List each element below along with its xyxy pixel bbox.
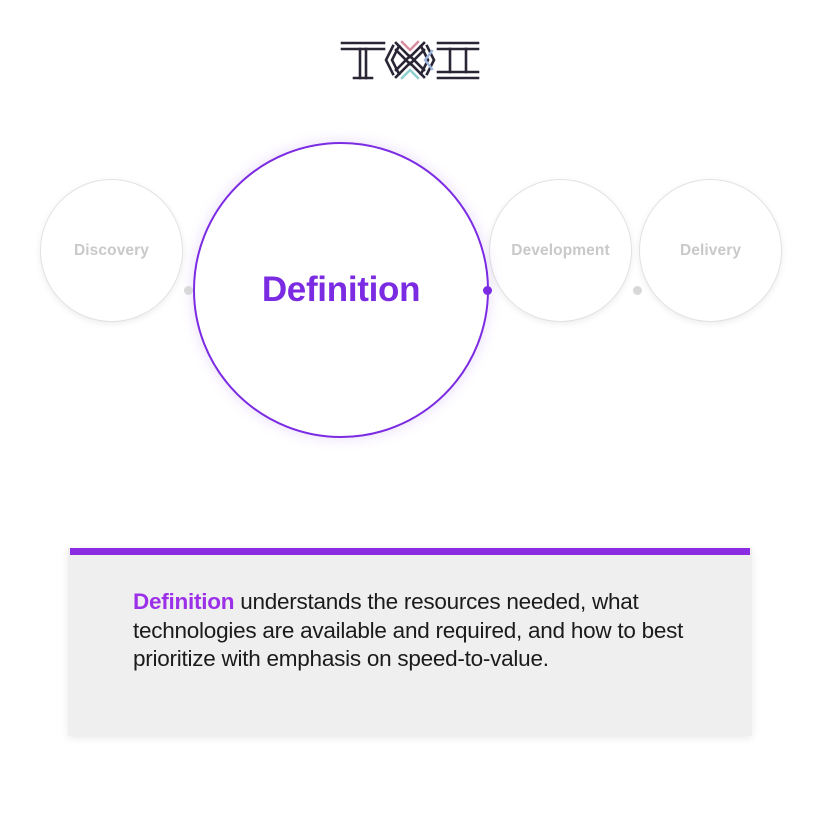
description-card: Definition understands the resources nee… bbox=[68, 548, 752, 736]
stage-circle-delivery[interactable]: Delivery bbox=[639, 179, 782, 322]
card-description: Definition understands the resources nee… bbox=[133, 588, 703, 674]
txi-logo-icon bbox=[340, 37, 480, 83]
stage-label-discovery: Discovery bbox=[74, 242, 149, 260]
stage-label-development: Development bbox=[511, 242, 609, 260]
stage-label-definition: Definition bbox=[262, 270, 420, 310]
card-highlight-term: Definition bbox=[133, 589, 234, 614]
card-accent-bar bbox=[70, 548, 750, 555]
process-diagram: Discovery Definition Development Deliver… bbox=[0, 110, 820, 480]
card-body: Definition understands the resources nee… bbox=[133, 588, 703, 674]
connector-dot-development-delivery bbox=[633, 286, 642, 295]
stage-circle-discovery[interactable]: Discovery bbox=[40, 179, 183, 322]
stage-circle-definition[interactable]: Definition bbox=[193, 142, 489, 438]
stage-label-delivery: Delivery bbox=[680, 242, 741, 260]
connector-dot-definition-development bbox=[483, 286, 492, 295]
stage-circle-development[interactable]: Development bbox=[489, 179, 632, 322]
brand-logo bbox=[0, 30, 820, 90]
page-root: { "brand": { "logo_name": "txi-logo", "l… bbox=[0, 0, 820, 820]
connector-dot-discovery-definition bbox=[184, 286, 193, 295]
